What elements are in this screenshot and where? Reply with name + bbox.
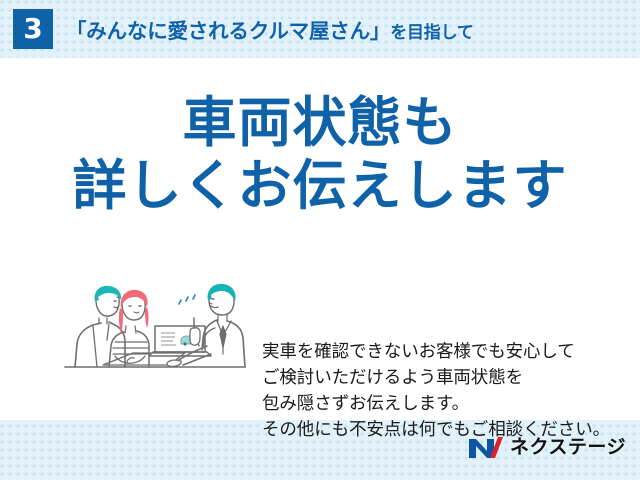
body-text-line-3: 包み隠さずお伝えします。 xyxy=(262,390,622,416)
speech-sparkle-icon xyxy=(179,295,195,304)
section-number-badge: 3 xyxy=(13,9,53,49)
promotional-banner: 3 「みんなに愛されるクルマ屋さん」 を目指して 車両状態も 詳しくお伝えします xyxy=(0,0,640,480)
header-title-main: 「みんなに愛されるクルマ屋さん」 xyxy=(66,14,390,44)
header-bar: 3 「みんなに愛されるクルマ屋さん」 を目指して xyxy=(0,0,640,58)
lower-section: 実車を確認できないお客様でも安心して ご検討いただけるよう車両状態を 包み隠さず… xyxy=(0,268,640,408)
nextage-n-logo-icon xyxy=(468,436,504,460)
content-panel: 車両状態も 詳しくお伝えします xyxy=(0,58,640,420)
consultation-illustration xyxy=(57,268,253,388)
header-title: 「みんなに愛されるクルマ屋さん」 を目指して xyxy=(66,14,474,44)
male-customer-hair xyxy=(95,286,121,301)
body-text-line-1: 実車を確認できないお客様でも安心して xyxy=(262,338,622,364)
page-title-line-1: 車両状態も xyxy=(0,92,640,155)
illustration-svg xyxy=(57,268,253,388)
page-title: 車両状態も 詳しくお伝えします xyxy=(0,92,640,217)
brand-logo-text: ネクステージ xyxy=(510,436,626,460)
header-title-sub: を目指して xyxy=(390,18,474,43)
female-customer-hair xyxy=(121,290,148,308)
page-title-line-2: 詳しくお伝えします xyxy=(0,155,640,218)
brand-logo: ネクステージ xyxy=(468,434,626,462)
body-text-line-2: ご検討いただけるよう車両状態を xyxy=(262,364,622,390)
footer-bar: ネクステージ xyxy=(0,420,640,480)
